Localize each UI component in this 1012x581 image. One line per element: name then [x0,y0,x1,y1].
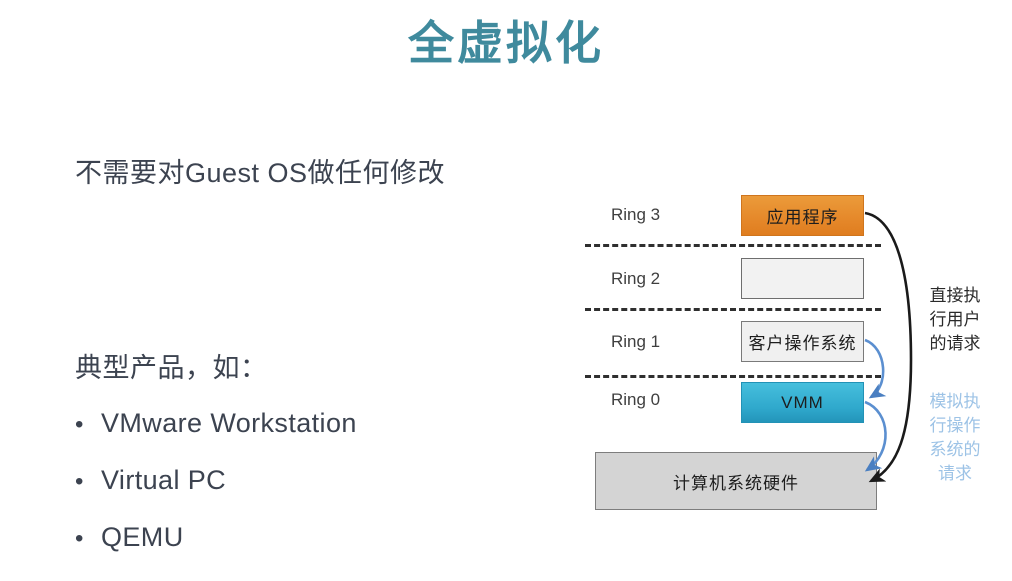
list-item: • Virtual PC [75,462,545,519]
annotation-emulated-execution: 模拟执 行操作 系统的 请求 [925,390,985,486]
ring-label-1: Ring 1 [611,332,660,352]
ring-divider-1-0 [585,375,881,378]
annotation-direct-execution: 直接执 行用户 的请求 [925,284,985,356]
ring-divider-2-1 [585,308,881,311]
lead-text: 不需要对Guest OS做任何修改 [75,155,545,191]
box-guest-os: 客户操作系统 [741,321,864,362]
virtualization-ring-diagram: Ring 3 Ring 2 Ring 1 Ring 0 应用程序 客户操作系统 … [575,190,1012,530]
list-item-label: Virtual PC [101,462,226,498]
page-title: 全虚拟化 [0,14,1012,72]
lead-text-block: 不需要对Guest OS做任何修改 [75,155,545,191]
slide-canvas: 全虚拟化 不需要对Guest OS做任何修改 典型产品，如： • VMware … [0,0,1012,581]
arrow-guest-to-vmm [865,340,883,397]
bullet-icon: • [75,464,101,500]
list-item-label: QEMU [101,519,184,555]
ring-label-3: Ring 3 [611,205,660,225]
bullet-icon: • [75,407,101,443]
box-application: 应用程序 [741,195,864,236]
bullet-icon: • [75,521,101,557]
product-list: • VMware Workstation • Virtual PC • QEMU [75,405,545,576]
ring-label-0: Ring 0 [611,390,660,410]
products-heading: 典型产品，如： [75,350,268,386]
list-item: • QEMU [75,519,545,576]
ring-label-2: Ring 2 [611,269,660,289]
arrow-direct-execution [865,213,911,481]
list-item: • VMware Workstation [75,405,545,462]
box-computer-hardware: 计算机系统硬件 [595,452,877,510]
ring-divider-3-2 [585,244,881,247]
box-vmm: VMM [741,382,864,423]
box-ring2-empty [741,258,864,299]
list-item-label: VMware Workstation [101,405,357,441]
